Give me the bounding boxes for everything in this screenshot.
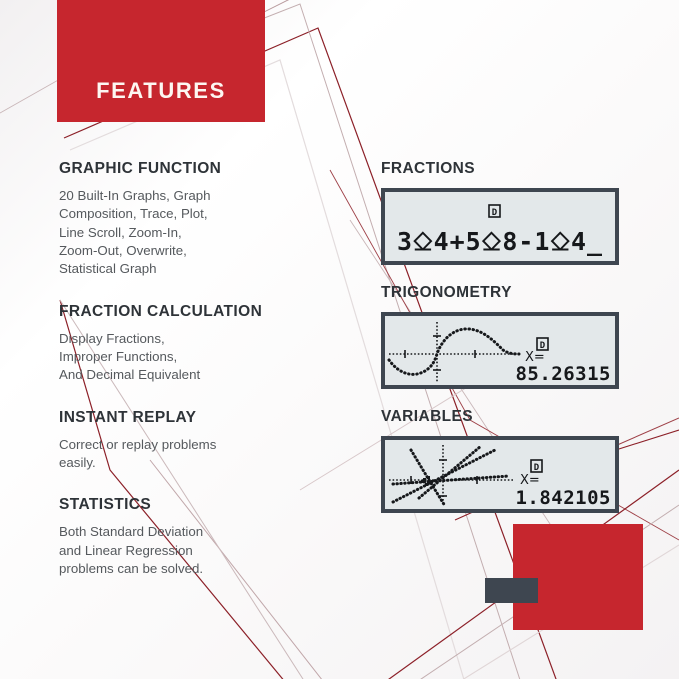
x-prompt: X= [520, 473, 540, 488]
display-title: VARIABLES [381, 408, 621, 426]
right-display-column: FRACTIONS D 3⎐4+5⎐8-1⎐4_ [381, 160, 621, 532]
lcd-content: D X= 85.26315 [385, 316, 615, 385]
lcd-screen-trigonometry: D X= 85.26315 [381, 312, 619, 389]
sine-curve [389, 329, 519, 374]
feature-body: Display Fractions, Improper Functions, A… [59, 330, 359, 385]
feature-body: Both Standard Deviation and Linear Regre… [59, 523, 359, 578]
result-value: 1.842105 [515, 487, 611, 509]
graph-axis-ticks [405, 336, 475, 370]
lcd-render-regression-graph: D X= 1.842105 [385, 440, 615, 509]
feature-body: 20 Built-In Graphs, Graph Composition, T… [59, 187, 359, 279]
lcd-render-sine-graph: D X= 85.26315 [385, 316, 615, 385]
left-feature-column: GRAPHIC FUNCTION 20 Built-In Graphs, Gra… [59, 160, 359, 602]
feature-block-instant-replay: INSTANT REPLAY Correct or replay problem… [59, 409, 359, 473]
fraction-expression: 3⎐4+5⎐8-1⎐4_ [397, 227, 603, 256]
mode-indicator-d: D [489, 205, 500, 218]
decorative-red-block [513, 524, 643, 630]
feature-title: INSTANT REPLAY [59, 409, 359, 427]
display-block-variables: VARIABLES [381, 408, 621, 513]
result-value: 85.26315 [515, 363, 611, 385]
decorative-slate-block [485, 578, 538, 603]
feature-block-fraction-calculation: FRACTION CALCULATION Display Fractions, … [59, 303, 359, 385]
feature-body: Correct or replay problems easily. [59, 436, 359, 473]
feature-title: STATISTICS [59, 496, 359, 514]
lcd-content: D 3⎐4+5⎐8-1⎐4_ [385, 192, 615, 261]
features-infographic: FEATURES GRAPHIC FUNCTION 20 Built-In Gr… [0, 0, 679, 679]
feature-block-graphic-function: GRAPHIC FUNCTION 20 Built-In Graphs, Gra… [59, 160, 359, 279]
display-block-fractions: FRACTIONS D 3⎐4+5⎐8-1⎐4_ [381, 160, 621, 265]
lcd-render-fraction-entry: D 3⎐4+5⎐8-1⎐4_ [385, 192, 615, 261]
mode-indicator-d: D [531, 460, 542, 473]
display-title: FRACTIONS [381, 160, 621, 178]
display-title: TRIGONOMETRY [381, 284, 621, 302]
features-banner-label: FEATURES [96, 78, 226, 104]
lcd-content: D X= 1.842105 [385, 440, 615, 509]
svg-text:D: D [534, 463, 540, 473]
lcd-screen-fractions: D 3⎐4+5⎐8-1⎐4_ [381, 188, 619, 265]
feature-block-statistics: STATISTICS Both Standard Deviation and L… [59, 496, 359, 578]
display-block-trigonometry: TRIGONOMETRY [381, 284, 621, 389]
lcd-screen-variables: D X= 1.842105 [381, 436, 619, 513]
feature-title: GRAPHIC FUNCTION [59, 160, 359, 178]
svg-text:3⎐4+5⎐8-1⎐4_: 3⎐4+5⎐8-1⎐4_ [397, 227, 603, 256]
features-banner: FEATURES [57, 0, 265, 122]
svg-text:D: D [492, 208, 498, 218]
feature-title: FRACTION CALCULATION [59, 303, 359, 321]
graph-axes [389, 445, 513, 506]
